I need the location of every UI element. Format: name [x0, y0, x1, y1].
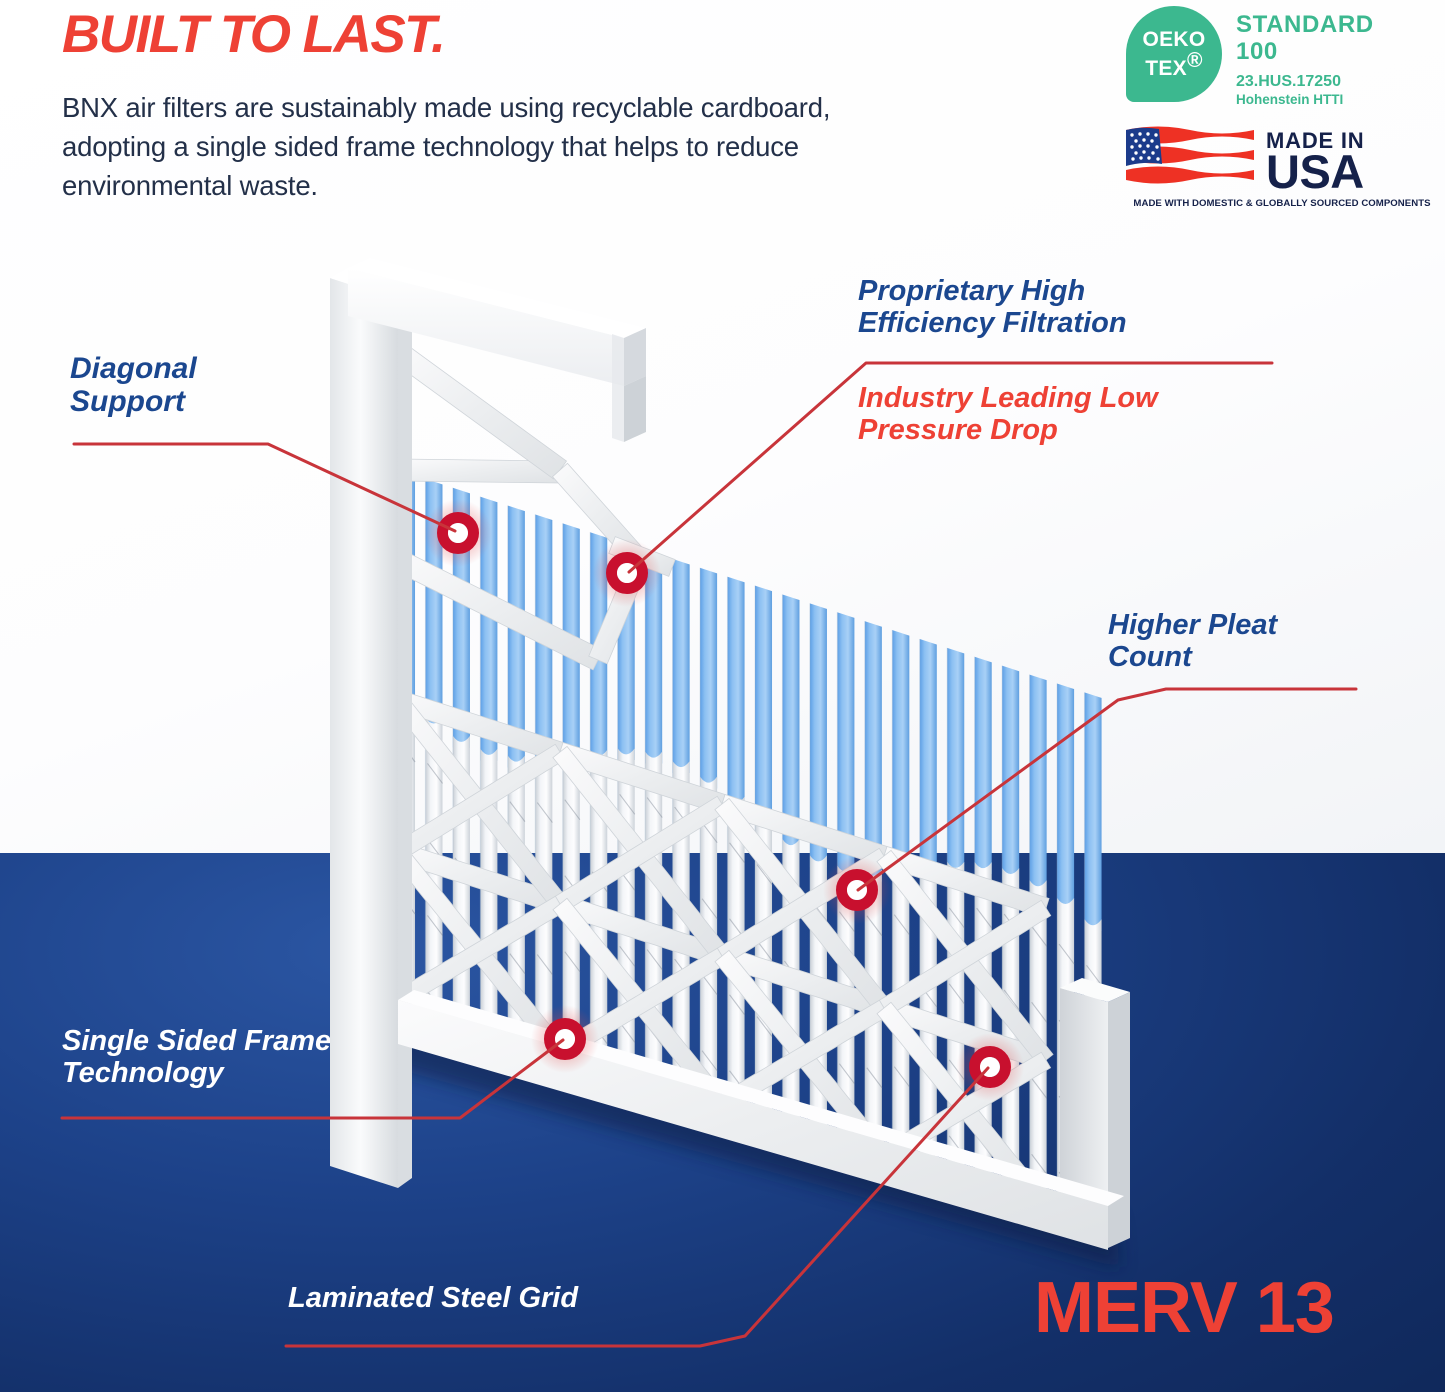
leader-laminated-steel-grid [286, 1068, 988, 1346]
leader-higher-pleat-count [858, 689, 1356, 890]
leader-diagonal-support [74, 444, 455, 531]
callout-leader-lines [0, 0, 1445, 1392]
infographic-canvas: BUILT TO LAST. BNX air filters are susta… [0, 0, 1445, 1392]
leader-single-sided-frame [62, 1040, 563, 1118]
leader-proprietary-filtration [629, 363, 1272, 572]
